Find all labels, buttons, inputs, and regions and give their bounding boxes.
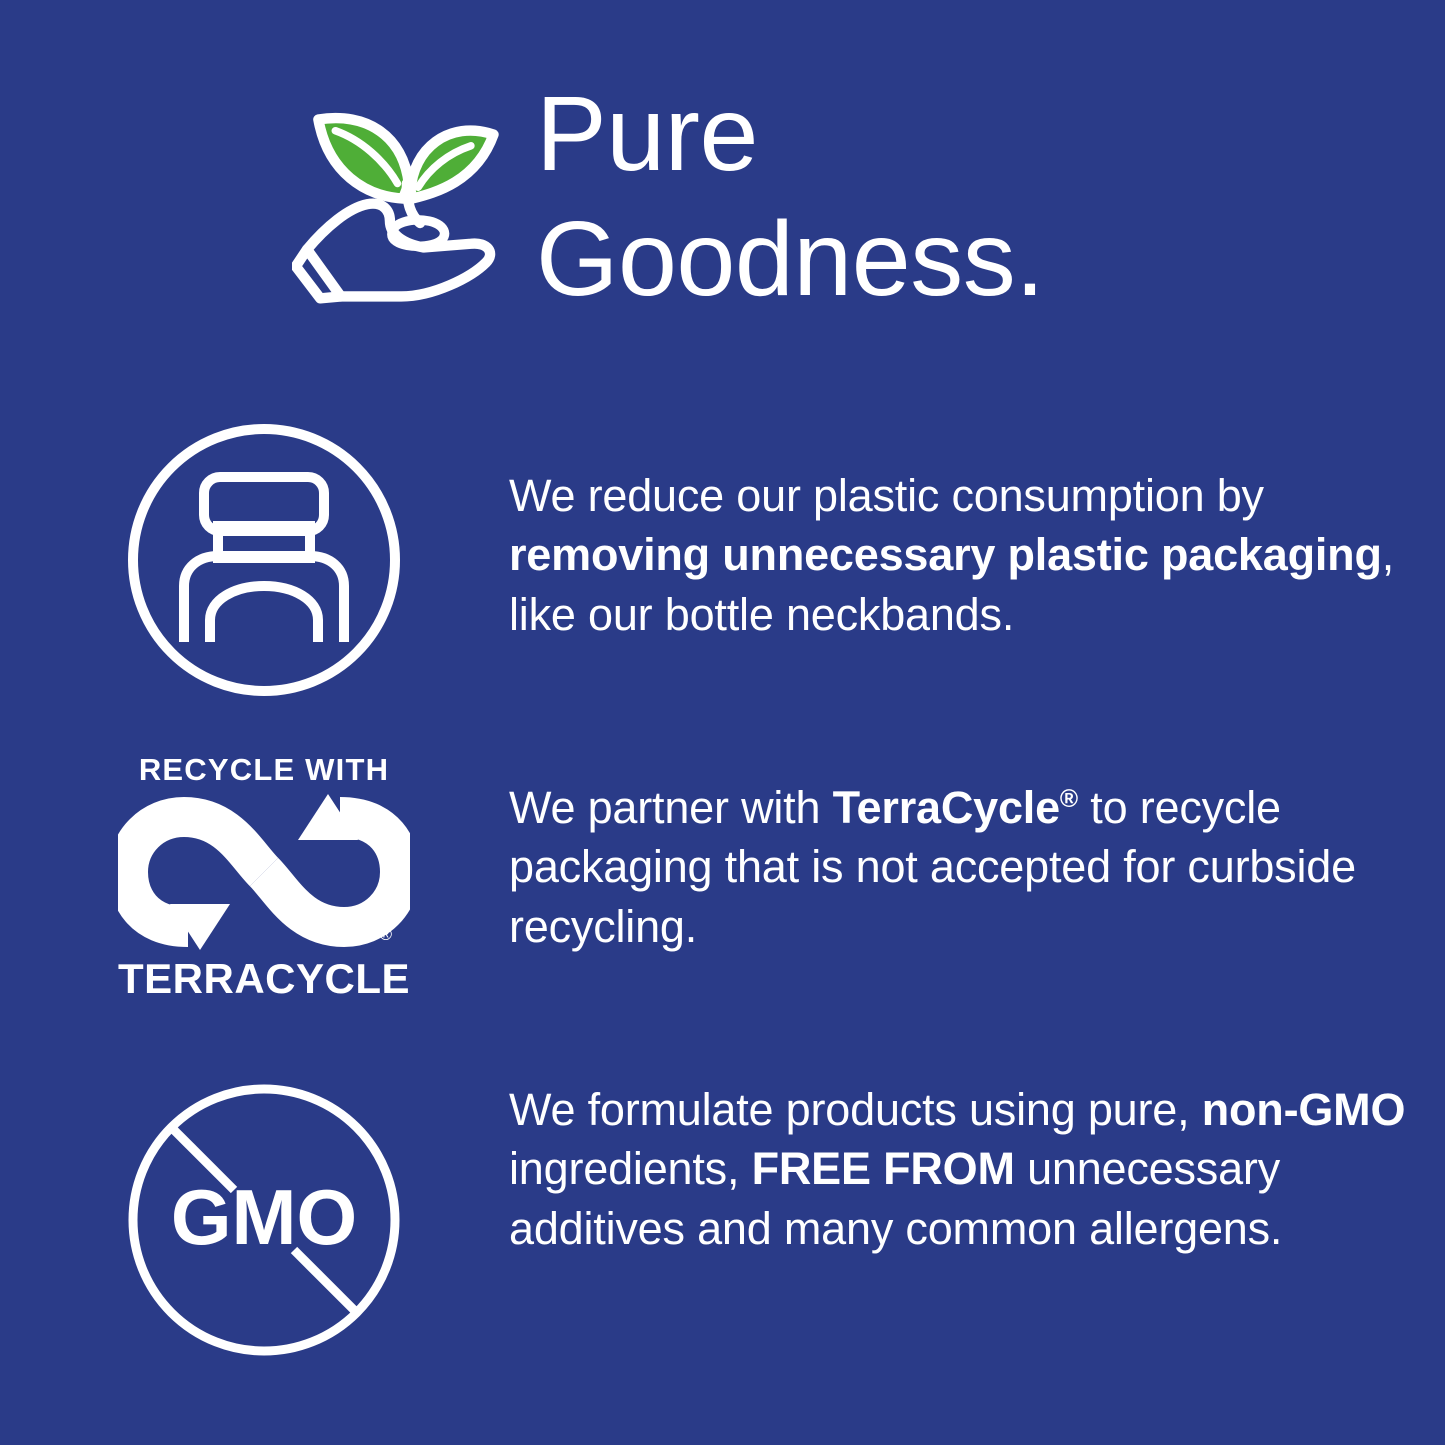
pure-goodness-poster: PureGoodness. We reduce our plastic cons… <box>0 0 1445 1445</box>
page-title-line-1: Pure <box>536 72 1044 197</box>
text-segment-bold: TerraCycle <box>833 782 1060 833</box>
feature-row-terracycle: RECYCLE WITH <box>118 752 1445 1002</box>
text-segment: ingredients, <box>509 1143 752 1194</box>
header: PureGoodness. <box>292 72 1044 322</box>
bottle-in-circle-icon <box>118 414 410 706</box>
mobius-infinity-arrows-icon <box>118 792 410 952</box>
page-title-line-2: Goodness. <box>536 197 1044 322</box>
text-segment: We formulate products using pure, <box>509 1084 1202 1135</box>
no-gmo-icon: GMO <box>118 1074 410 1366</box>
text-segment: We reduce our plastic consumption by <box>509 470 1264 521</box>
feature-text-gmo: We formulate products using pure, non-GM… <box>509 1080 1445 1258</box>
terracycle-top-label: RECYCLE WITH <box>139 754 389 785</box>
text-segment: We partner with <box>509 782 833 833</box>
plant-in-hand-icon <box>292 78 518 304</box>
terracycle-bottom-label: TERRACYCLE <box>118 958 410 1000</box>
feature-text-plastic: We reduce our plastic consumption by rem… <box>509 466 1445 644</box>
feature-row-plastic: We reduce our plastic consumption by rem… <box>118 414 1445 706</box>
terracycle-logo: RECYCLE WITH <box>118 752 410 1002</box>
text-segment-bold: FREE FROM <box>752 1143 1015 1194</box>
page-title: PureGoodness. <box>536 72 1044 322</box>
gmo-label: GMO <box>171 1173 357 1261</box>
feature-row-gmo: GMO We formulate products using pure, no… <box>118 1074 1445 1366</box>
feature-text-terracycle: We partner with TerraCycle® to recycle p… <box>509 778 1445 956</box>
registered-superscript: ® <box>1060 786 1078 813</box>
text-segment-bold: removing unnecessary plastic packaging <box>509 529 1382 580</box>
text-segment-bold: non-GMO <box>1202 1084 1406 1135</box>
